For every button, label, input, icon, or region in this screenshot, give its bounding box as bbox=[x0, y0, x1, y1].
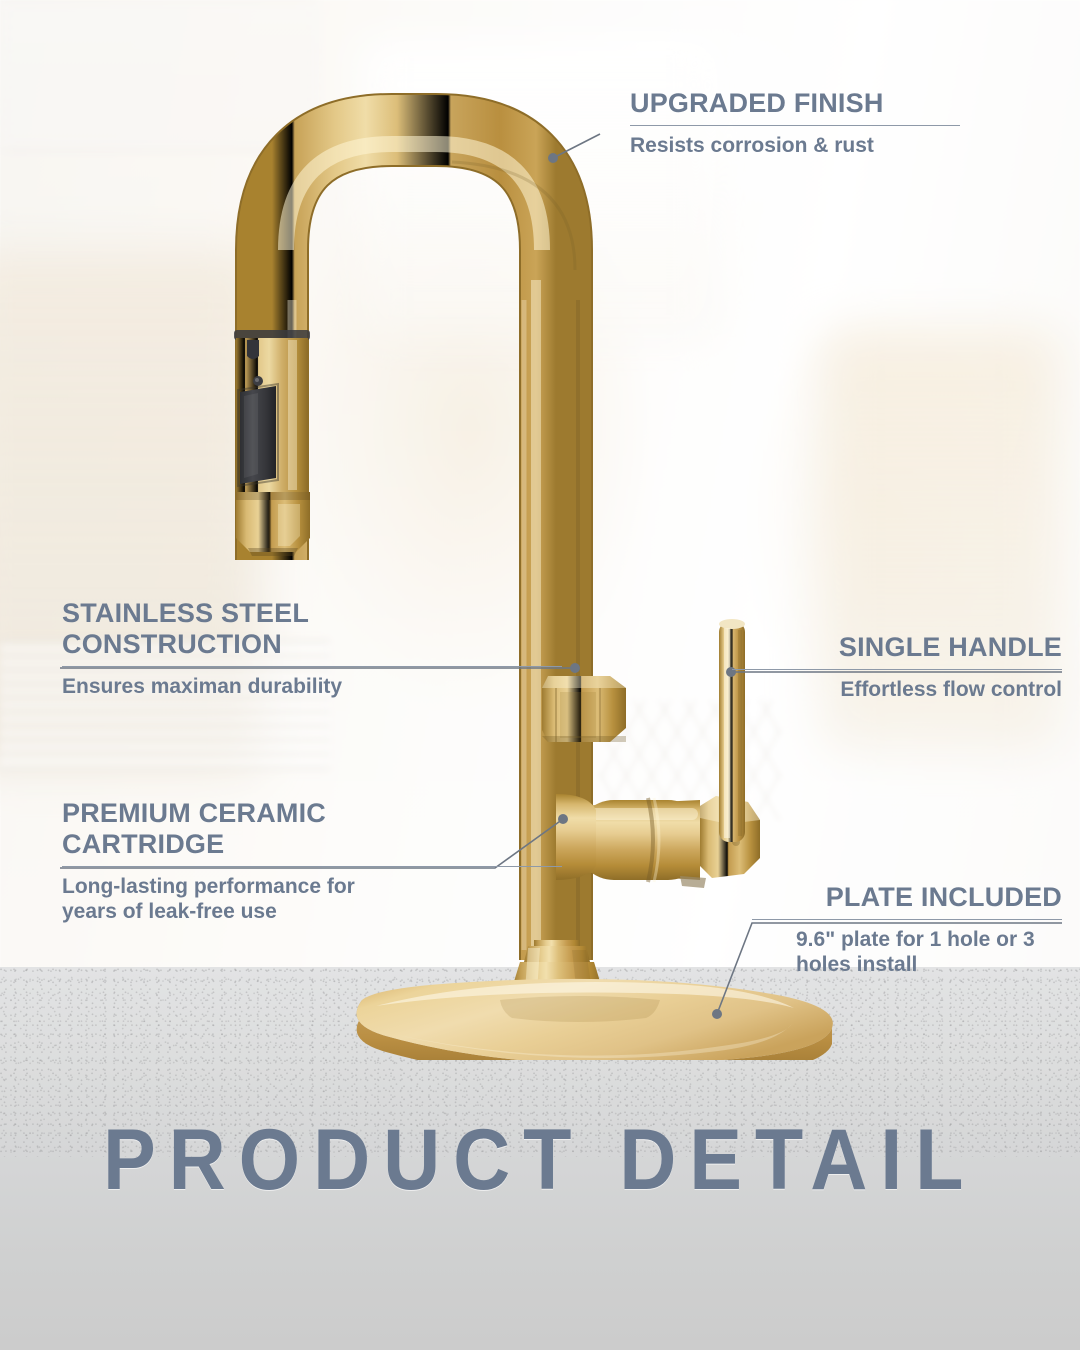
callout-title: UPGRADED FINISH bbox=[630, 88, 960, 119]
callout-plate-included: PLATE INCLUDED 9.6" plate for 1 hole or … bbox=[752, 882, 1062, 977]
escutcheon-deck-plate bbox=[357, 979, 833, 1060]
callout-premium-ceramic-cartridge: PREMIUM CERAMIC CARTRIDGE Long-lasting p… bbox=[62, 798, 562, 924]
pull-down-sprayer-head bbox=[234, 330, 310, 556]
product-detail-banner: PRODUCT DETAIL bbox=[0, 1095, 1080, 1225]
callout-rule bbox=[732, 669, 1062, 670]
callout-stainless-steel-construction: STAINLESS STEEL CONSTRUCTION Ensures max… bbox=[62, 598, 562, 699]
callout-rule bbox=[62, 666, 562, 667]
callout-subtitle: Effortless flow control bbox=[732, 677, 1062, 702]
callout-subtitle: 9.6" plate for 1 hole or 3 holes install bbox=[752, 927, 1062, 977]
product-detail-infographic: UPGRADED FINISH Resists corrosion & rust… bbox=[0, 0, 1080, 1350]
callout-rule bbox=[62, 866, 562, 867]
callout-title: PREMIUM CERAMIC CARTRIDGE bbox=[62, 798, 562, 860]
callout-title: PLATE INCLUDED bbox=[752, 882, 1062, 913]
callout-upgraded-finish: UPGRADED FINISH Resists corrosion & rust bbox=[630, 88, 960, 158]
callout-title: STAINLESS STEEL CONSTRUCTION bbox=[62, 598, 562, 660]
callout-subtitle: Ensures maximan durability bbox=[62, 674, 562, 699]
banner-title: PRODUCT DETAIL bbox=[103, 1111, 976, 1210]
callout-single-handle: SINGLE HANDLE Effortless flow control bbox=[732, 632, 1062, 702]
callout-rule bbox=[630, 125, 960, 126]
callout-subtitle: Resists corrosion & rust bbox=[630, 133, 960, 158]
callout-rule bbox=[752, 919, 1062, 920]
callout-title: SINGLE HANDLE bbox=[732, 632, 1062, 663]
callout-subtitle: Long-lasting performance for years of le… bbox=[62, 874, 562, 924]
